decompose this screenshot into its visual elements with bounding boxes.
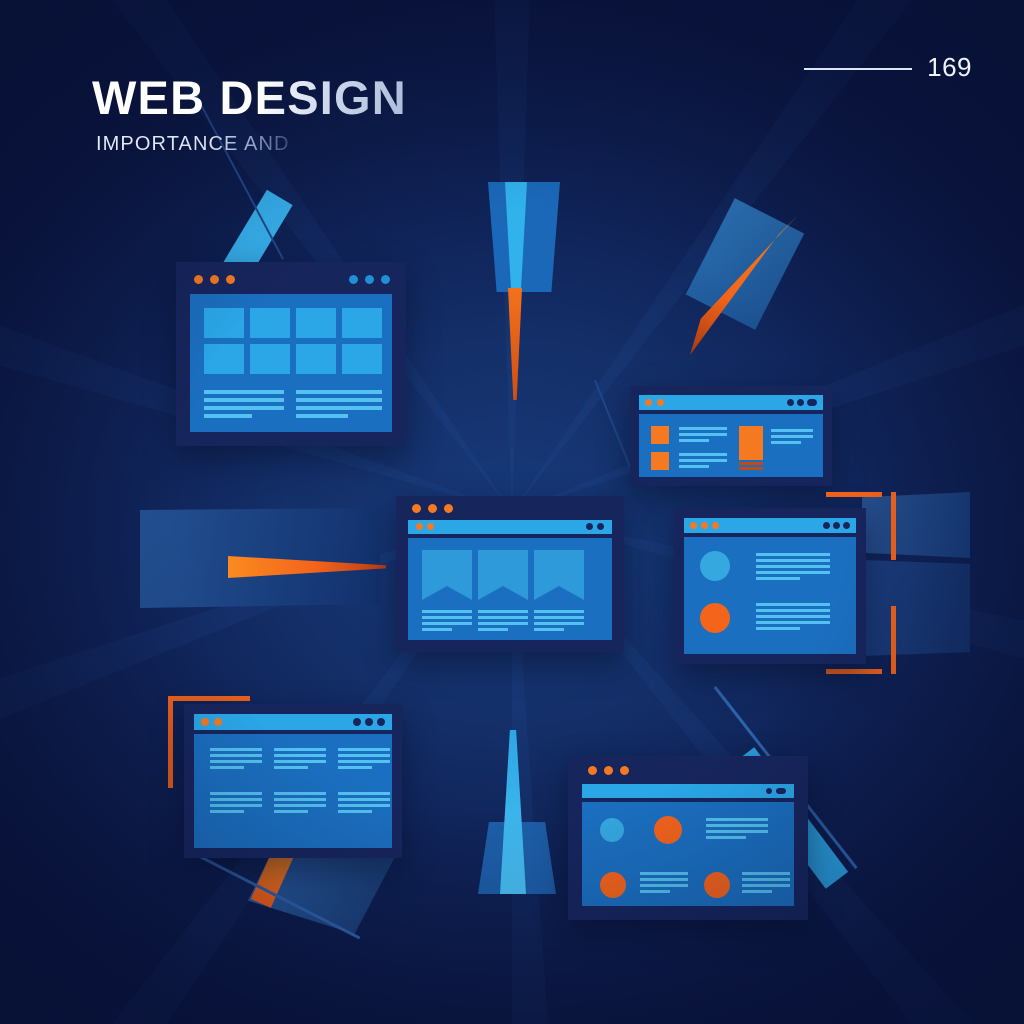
text-line [756,577,800,580]
thumbnail-tile[interactable] [296,308,336,338]
page-number: 169 [927,52,972,83]
feature-strip [739,462,763,465]
text-line [756,621,830,624]
text-line [742,872,790,875]
text-line [274,760,326,763]
text-line [296,390,382,394]
window-dot-orange[interactable] [620,766,629,775]
text-line [679,427,727,430]
text-line [679,465,709,468]
toolbar-dot-orange[interactable] [427,523,434,530]
thumbnail-tile[interactable] [204,344,244,374]
titlebar-dots-left[interactable] [201,718,222,726]
text-line [274,804,326,807]
window-dot-dark[interactable] [377,718,385,726]
thumbnail-tile[interactable] [296,344,336,374]
window-dot-orange[interactable] [645,399,652,406]
text-line [534,610,584,613]
text-line [478,610,528,613]
titlebar-dots-right[interactable] [349,275,390,284]
text-line [756,565,830,568]
text-line [338,760,390,763]
window-content [639,414,823,477]
header-rule [804,68,912,70]
window-titlebar[interactable] [684,518,856,533]
window-dot-dark[interactable] [843,522,850,529]
thumbnail-orange[interactable] [651,426,669,444]
text-line [204,414,252,418]
window-dot-orange[interactable] [412,504,421,513]
window-toolbar[interactable] [408,520,612,534]
text-line [742,884,790,887]
text-line [640,890,670,893]
toolbar-dots-left[interactable] [416,523,434,530]
toolbar-dot-dark[interactable] [586,523,593,530]
toolbar-dot-dark[interactable] [597,523,604,530]
text-line [274,766,308,769]
text-line [742,890,772,893]
grid-icon-orange[interactable] [704,872,730,898]
window-dot-orange[interactable] [690,522,697,529]
text-line [338,766,372,769]
titlebar-dots-left[interactable] [588,766,629,775]
text-line [338,792,390,795]
text-line [756,559,830,562]
page-subtitle: IMPORTANCE AND [96,133,290,156]
text-line [274,754,326,757]
window-article-columns[interactable] [184,704,402,858]
window-dot-blue[interactable] [349,275,358,284]
text-line [756,627,800,630]
feature-icon-orange[interactable] [700,603,730,633]
text-line [534,622,584,625]
thumbnail-tile[interactable] [342,344,382,374]
text-line [204,406,284,410]
window-content [194,734,392,848]
thumbnail-tile[interactable] [204,308,244,338]
window-dot-orange[interactable] [194,275,203,284]
thumbnail-tile[interactable] [342,308,382,338]
text-line [756,553,830,556]
window-dot-orange[interactable] [226,275,235,284]
titlebar-dots-left[interactable] [645,399,664,406]
window-dot-orange[interactable] [712,522,719,529]
text-line [338,804,390,807]
text-line [679,439,709,442]
text-line [210,810,244,813]
text-line [422,610,472,613]
text-line [210,804,262,807]
titlebar-dots-right[interactable] [823,522,850,529]
page-title: WEB DESIGN [92,70,407,125]
text-line [338,754,390,757]
thumbnail-orange[interactable] [651,452,669,470]
text-line [422,628,452,631]
text-line [756,609,830,612]
window-dot-dark[interactable] [787,399,794,406]
text-line [640,872,688,875]
window-dot-orange[interactable] [201,718,209,726]
text-line [679,459,727,462]
titlebar-dots-left[interactable] [412,504,453,513]
text-line [296,398,382,402]
window-content [582,802,794,906]
titlebar-dots-left[interactable] [194,275,235,284]
text-line [274,798,326,801]
window-dot-blue[interactable] [381,275,390,284]
window-dot-orange[interactable] [701,522,708,529]
text-line [422,616,472,619]
image-card[interactable] [534,550,584,600]
text-line [478,616,528,619]
text-line [679,433,727,436]
text-line [640,884,688,887]
grid-icon-orange[interactable] [600,872,626,898]
window-dot-dark[interactable] [353,718,361,726]
window-dot-dark[interactable] [833,522,840,529]
text-line [204,390,284,394]
text-line [296,406,382,410]
window-image-cards[interactable] [396,496,624,652]
text-line [422,622,472,625]
window-dot-orange[interactable] [214,718,222,726]
text-line [296,414,348,418]
toolbar-dots-right[interactable] [586,523,604,530]
text-line [338,810,372,813]
feature-icon-blue[interactable] [700,551,730,581]
toolbar-dot-dark[interactable] [766,788,772,794]
text-line [771,435,813,438]
window-toolbar[interactable] [582,784,794,798]
text-line [756,571,830,574]
text-line [274,748,326,751]
toolbar-dot-dark[interactable] [776,788,786,794]
toolbar-dots-right[interactable] [766,788,786,794]
window-dot-dark[interactable] [823,522,830,529]
feature-strip [739,467,763,470]
text-line [771,441,801,444]
window-gallery-grid[interactable] [176,262,406,446]
titlebar-dots-left[interactable] [690,522,719,529]
text-line [756,603,830,606]
window-feature-list[interactable] [674,508,866,664]
text-line [210,748,262,751]
text-line [478,622,528,625]
toolbar-dot-orange[interactable] [416,523,423,530]
window-dot-dark[interactable] [797,399,804,406]
window-dot-orange[interactable] [657,399,664,406]
image-card[interactable] [422,550,472,600]
thumbnail-tile[interactable] [250,344,290,374]
text-line [640,878,688,881]
titlebar-dots-right[interactable] [353,718,385,726]
image-card[interactable] [478,550,528,600]
text-line [210,766,244,769]
text-line [706,836,746,839]
text-line [204,398,284,402]
text-line [210,760,262,763]
feature-block-orange[interactable] [739,426,763,460]
window-titlebar[interactable] [639,395,823,410]
poster-canvas: WEB DESIGN IMPORTANCE AND 169 [0,0,1024,1024]
text-line [478,628,508,631]
text-line [210,792,262,795]
window-content [190,294,392,432]
titlebar-dots-right[interactable] [787,399,817,406]
window-dot-blue[interactable] [365,275,374,284]
text-line [706,818,768,821]
window-dot-orange[interactable] [444,504,453,513]
window-dot-dark[interactable] [807,399,817,406]
window-dot-orange[interactable] [588,766,597,775]
window-dot-orange[interactable] [604,766,613,775]
text-line [706,830,768,833]
window-dot-orange[interactable] [428,504,437,513]
window-titlebar[interactable] [194,714,392,730]
window-icon-grid[interactable] [568,756,808,920]
text-line [338,798,390,801]
text-line [210,798,262,801]
window-product-listing[interactable] [630,386,832,486]
grid-icon-orange[interactable] [654,816,682,844]
text-line [338,748,390,751]
thumbnail-tile[interactable] [250,308,290,338]
text-line [274,810,308,813]
text-line [706,824,768,827]
text-line [742,878,790,881]
text-line [679,453,727,456]
window-dot-dark[interactable] [365,718,373,726]
window-dot-orange[interactable] [210,275,219,284]
text-line [756,615,830,618]
window-content [684,537,856,654]
text-line [534,628,564,631]
window-content [408,538,612,640]
text-line [771,429,813,432]
grid-icon-blue[interactable] [600,818,624,842]
text-line [210,754,262,757]
text-line [534,616,584,619]
text-line [274,792,326,795]
